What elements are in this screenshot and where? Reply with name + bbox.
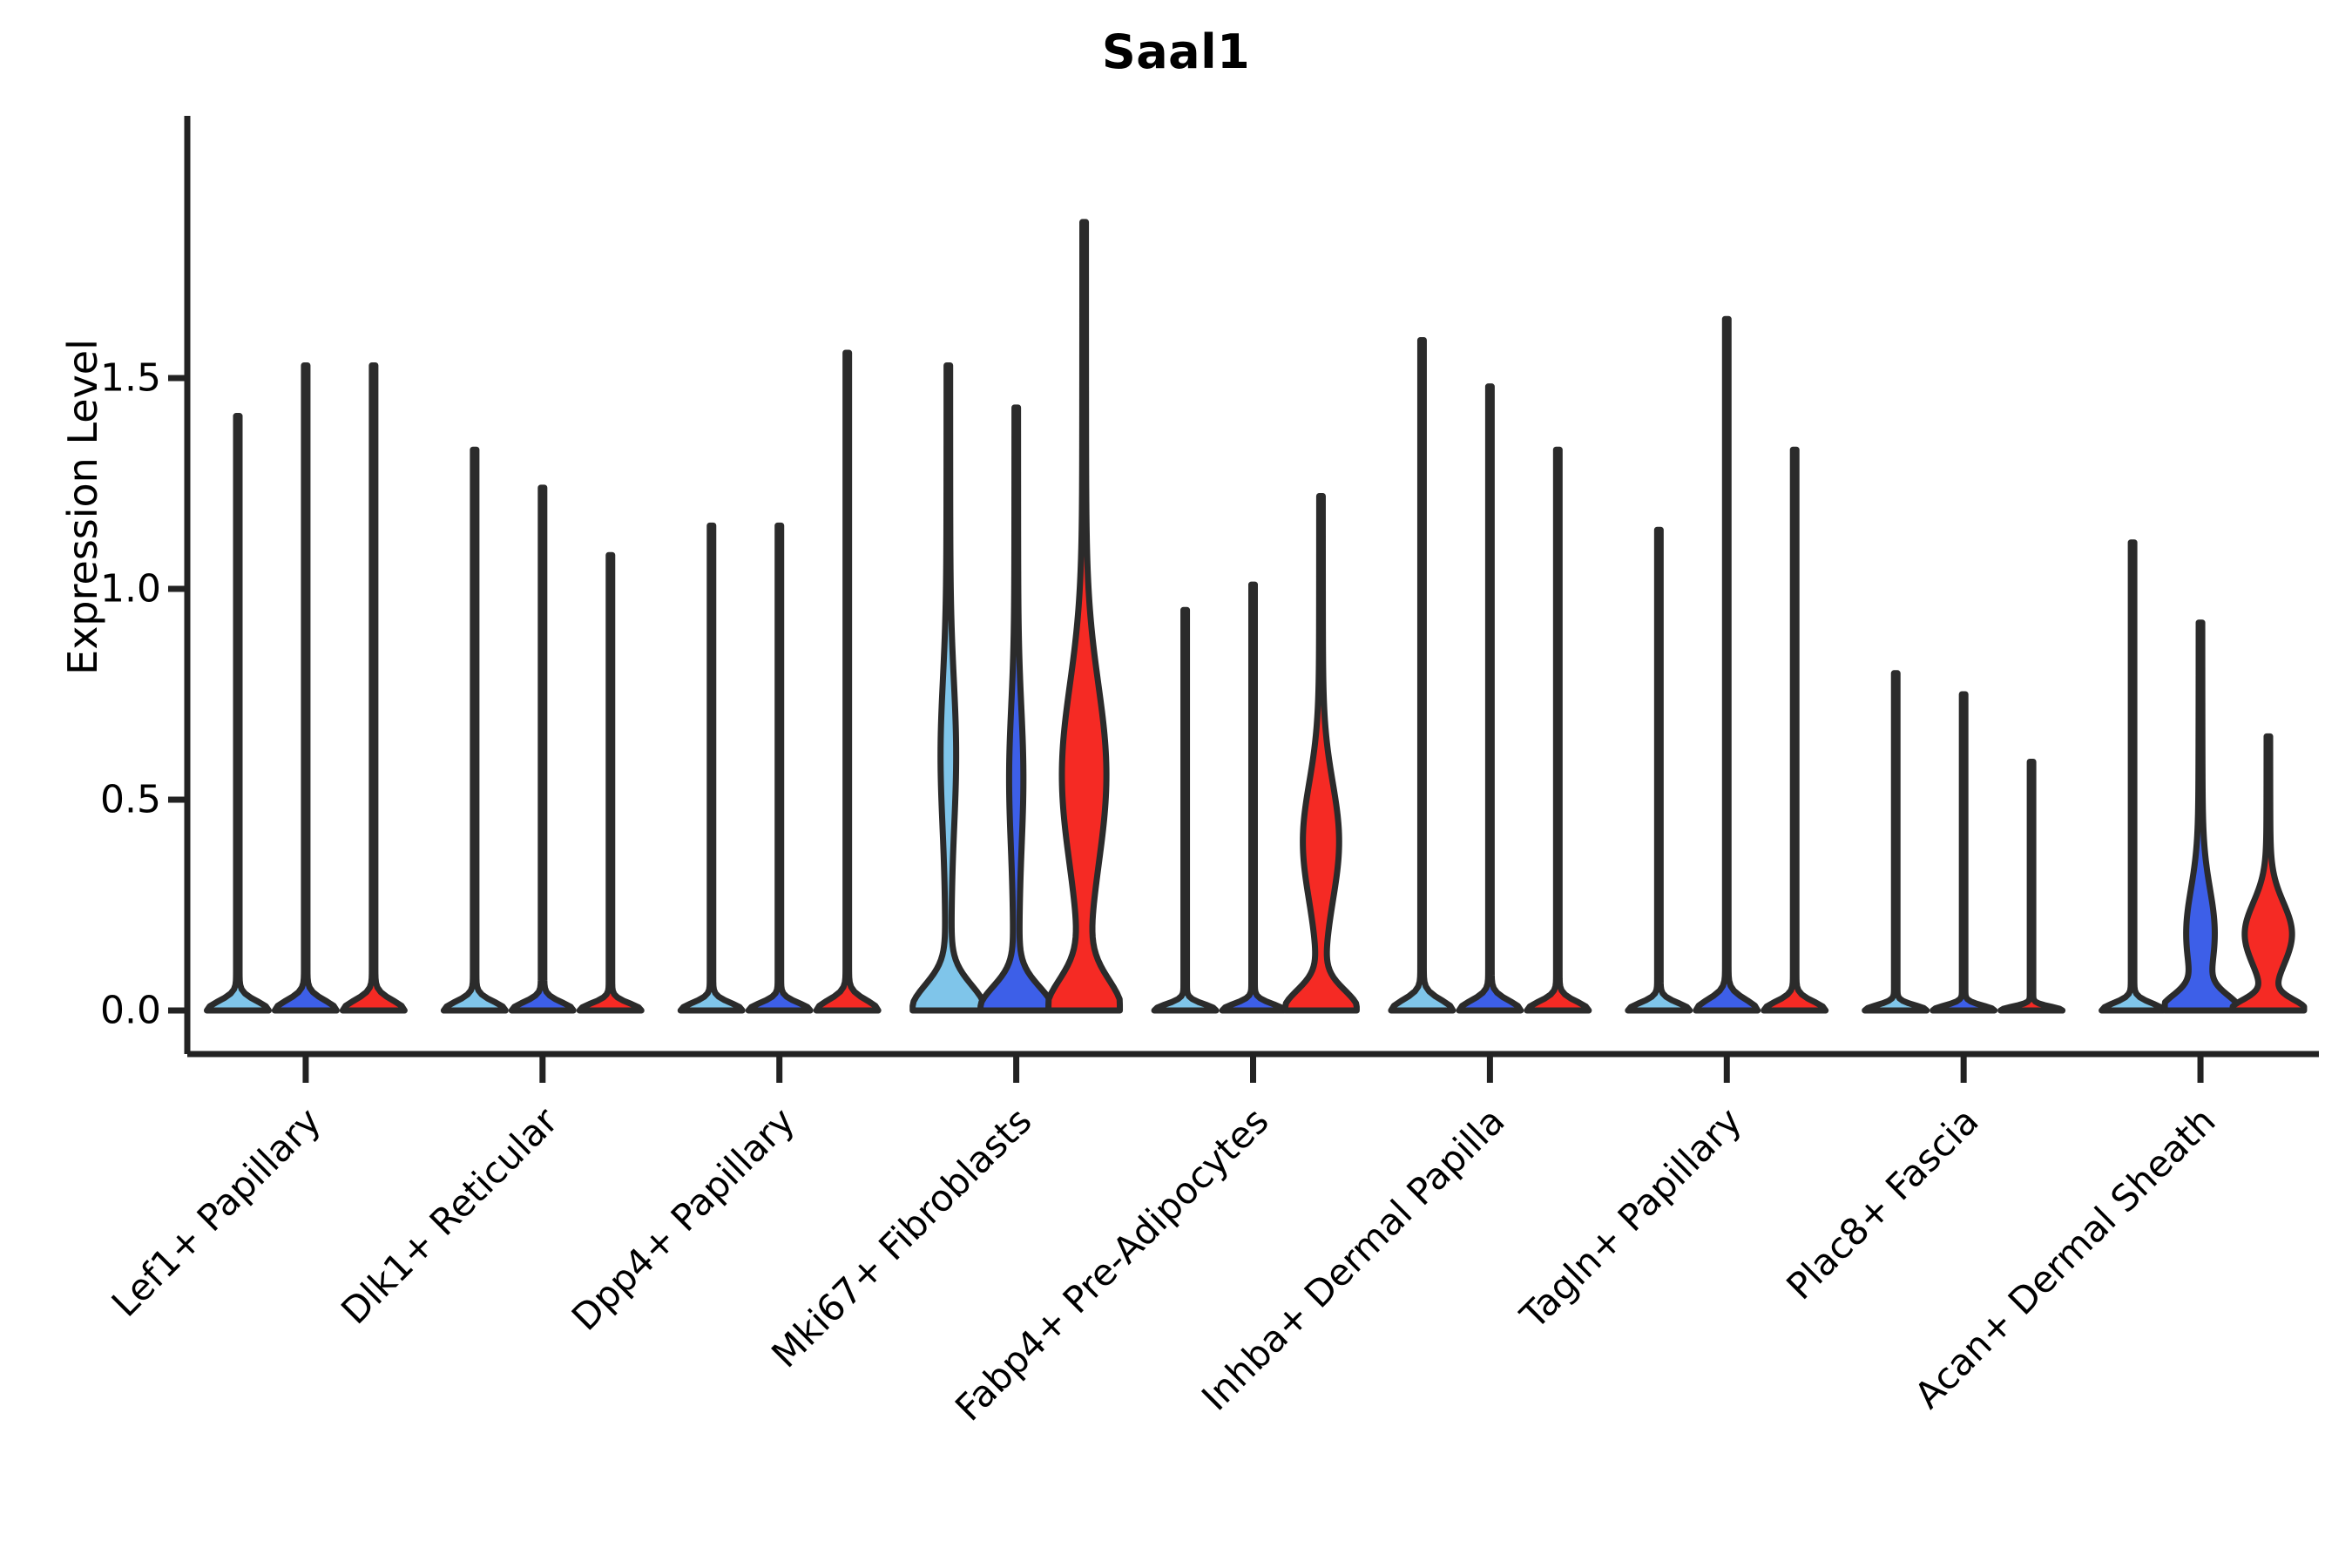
- violin-2-group-1: [443, 449, 505, 1010]
- x-axis-ticks: [306, 1054, 2200, 1083]
- violin-3-group-1: [680, 525, 742, 1010]
- violin-4-group-1: [913, 365, 984, 1010]
- violin-7-group-1: [1628, 530, 1690, 1010]
- violin-2-group-3: [579, 555, 641, 1010]
- violin-7-group-3: [1764, 449, 1826, 1010]
- violin-5-group-3: [1285, 497, 1356, 1010]
- violin-4-group-3: [1049, 222, 1120, 1010]
- violin-6-group-2: [1459, 387, 1521, 1010]
- violin-3-group-2: [748, 525, 810, 1010]
- violin-3-group-3: [816, 353, 878, 1010]
- violin-1-group-3: [342, 365, 404, 1010]
- violin-1-group-1: [206, 416, 268, 1010]
- violin-5-group-1: [1154, 610, 1216, 1010]
- violin-6-group-1: [1391, 340, 1453, 1010]
- violin-9-group-2: [2165, 623, 2236, 1010]
- violin-8-group-2: [1933, 694, 1995, 1010]
- violin-8-group-1: [1865, 673, 1927, 1010]
- violin-6-group-3: [1527, 449, 1589, 1010]
- violin-1-group-2: [274, 365, 336, 1010]
- violin-9-group-1: [2102, 543, 2164, 1010]
- violins-layer: [206, 222, 2303, 1010]
- violin-plot-figure: Saal1 Expression Level 0.00.51.01.5 Lef1…: [0, 0, 2352, 1568]
- violin-8-group-3: [2001, 761, 2063, 1010]
- violin-2-group-2: [511, 488, 573, 1010]
- violin-4-group-2: [981, 408, 1052, 1010]
- violin-9-group-3: [2233, 736, 2304, 1010]
- violin-5-group-2: [1222, 585, 1284, 1010]
- violin-7-group-2: [1696, 319, 1758, 1010]
